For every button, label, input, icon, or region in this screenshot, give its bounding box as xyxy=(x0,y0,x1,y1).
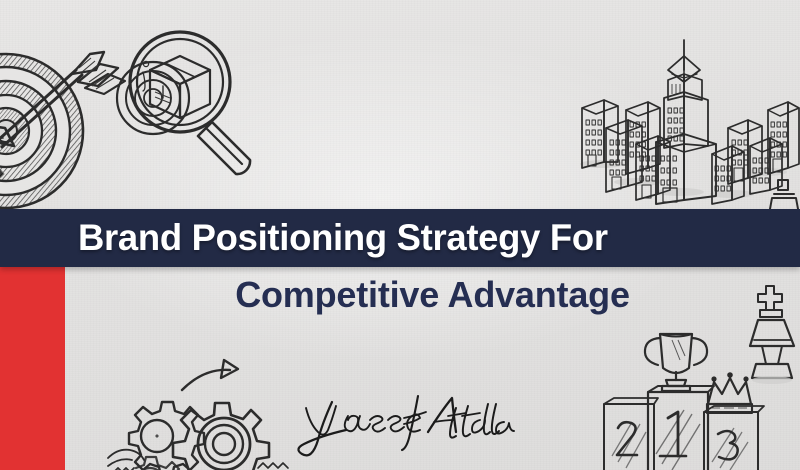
red-accent-block xyxy=(0,267,65,470)
author-signature xyxy=(296,390,516,460)
page-title: Brand Positioning Strategy For xyxy=(78,217,608,259)
poster-canvas: Brand Positioning Strategy For Competiti… xyxy=(0,0,800,470)
magnifier-box-sketch xyxy=(122,26,272,186)
subtitle-container: Competitive Advantage xyxy=(65,267,800,323)
page-subtitle: Competitive Advantage xyxy=(235,274,630,316)
gears-arrow-sketch xyxy=(108,352,308,470)
title-band: Brand Positioning Strategy For xyxy=(0,209,800,267)
